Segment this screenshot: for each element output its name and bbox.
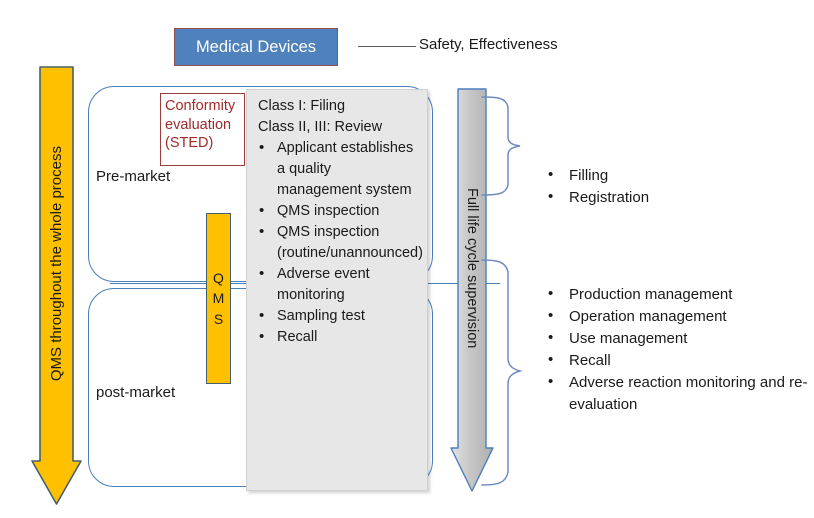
postmarket-brace-shape: [480, 258, 536, 488]
conformity-line-1: Conformity: [165, 97, 240, 116]
list-item: QMS inspection (routine/unannounced): [255, 222, 419, 264]
detail-panel: Class I: Filing Class II, III: Review Ap…: [246, 89, 428, 491]
page-title: Medical Devices: [196, 38, 316, 57]
title-attribute-label: Safety, Effectiveness: [419, 36, 558, 53]
postmarket-outcome-list: Production management Operation manageme…: [544, 284, 814, 416]
postmarket-brace: [480, 258, 536, 488]
qms-vertical-bar: Q M S: [206, 213, 231, 384]
list-item: Sampling test: [255, 306, 419, 327]
premarket-outcome-list: Filling Registration: [544, 165, 649, 209]
list-item: Production management: [544, 284, 814, 306]
premarket-outcome-items: Filling Registration: [544, 165, 649, 209]
class-line-1: Class I: Filing: [258, 96, 419, 117]
post-market-label: post-market: [96, 384, 175, 401]
class-line-2: Class II, III: Review: [258, 117, 419, 138]
premarket-activity-list: Applicant establishes a quality manageme…: [255, 138, 419, 222]
qms-bar-letter-s: S: [214, 309, 223, 329]
list-item: Filling: [544, 165, 649, 187]
list-item: Registration: [544, 187, 649, 209]
list-item: Use management: [544, 328, 814, 350]
list-item: Operation management: [544, 306, 814, 328]
page-title-box: Medical Devices: [174, 28, 338, 66]
qms-bar-letter-m: M: [213, 288, 225, 308]
list-item: QMS inspection: [255, 201, 419, 222]
postmarket-activity-list: QMS inspection (routine/unannounced) Adv…: [255, 222, 419, 348]
premarket-brace-shape: [480, 95, 536, 197]
list-item: Adverse reaction monitoring and re-evalu…: [544, 372, 814, 416]
list-item: Applicant establishes a quality manageme…: [255, 138, 419, 201]
list-item: Recall: [544, 350, 814, 372]
list-item: Recall: [255, 327, 419, 348]
list-item: Adverse event monitoring: [255, 264, 419, 306]
pre-market-label: Pre-market: [96, 168, 170, 185]
qms-process-arrow: QMS throughout the whole process: [31, 66, 82, 506]
conformity-evaluation-box: Conformity evaluation (STED): [160, 93, 245, 166]
postmarket-outcome-items: Production management Operation manageme…: [544, 284, 814, 416]
conformity-line-2: evaluation: [165, 116, 240, 135]
qms-bar-letter-q: Q: [213, 268, 224, 288]
title-connector-line: [358, 46, 416, 47]
qms-process-arrow-shape: [31, 66, 82, 506]
conformity-line-3: (STED): [165, 134, 240, 153]
premarket-brace: [480, 95, 536, 197]
